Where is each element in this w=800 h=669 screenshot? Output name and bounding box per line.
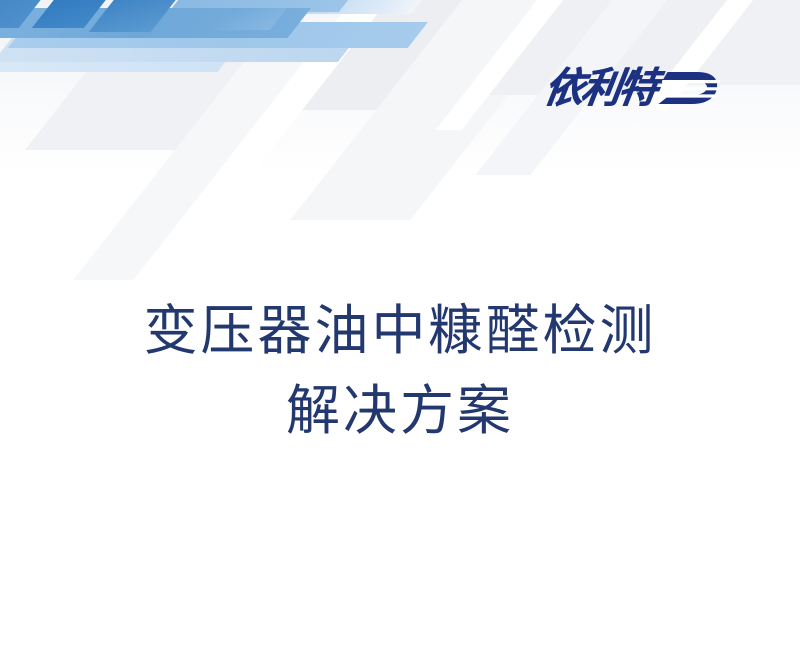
blue-accent-parallelogram [32,0,112,28]
slide-title: 变压器油中糠醛检测 解决方案 [0,300,800,443]
blue-accent-parallelogram [169,0,356,12]
gray-diagonal-band [301,0,545,110]
striped-wing-mark-icon [658,68,722,108]
gray-diagonal-band [73,0,360,280]
company-logo: 依利特 [545,58,740,118]
blue-accent-parallelogram [215,8,287,30]
title-slide: 依利特 变压器油中糠醛检测 解决方案 [0,0,800,669]
gray-diagonal-band [25,0,360,150]
title-line-1: 变压器油中糠醛检测 [0,300,800,364]
logo-wordmark: 依利特 [542,67,660,108]
blue-accent-parallelogram [8,22,428,48]
blue-accent-parallelogram [0,35,359,62]
blue-accent-parallelogram [89,0,182,32]
title-line-2: 解决方案 [0,380,800,444]
blue-accent-parallelogram [0,0,50,28]
blue-accent-parallelogram [0,56,230,72]
blue-accent-parallelogram [281,0,430,14]
blue-accent-parallelogram [0,8,311,38]
white-diagonal-highlight [215,0,396,175]
